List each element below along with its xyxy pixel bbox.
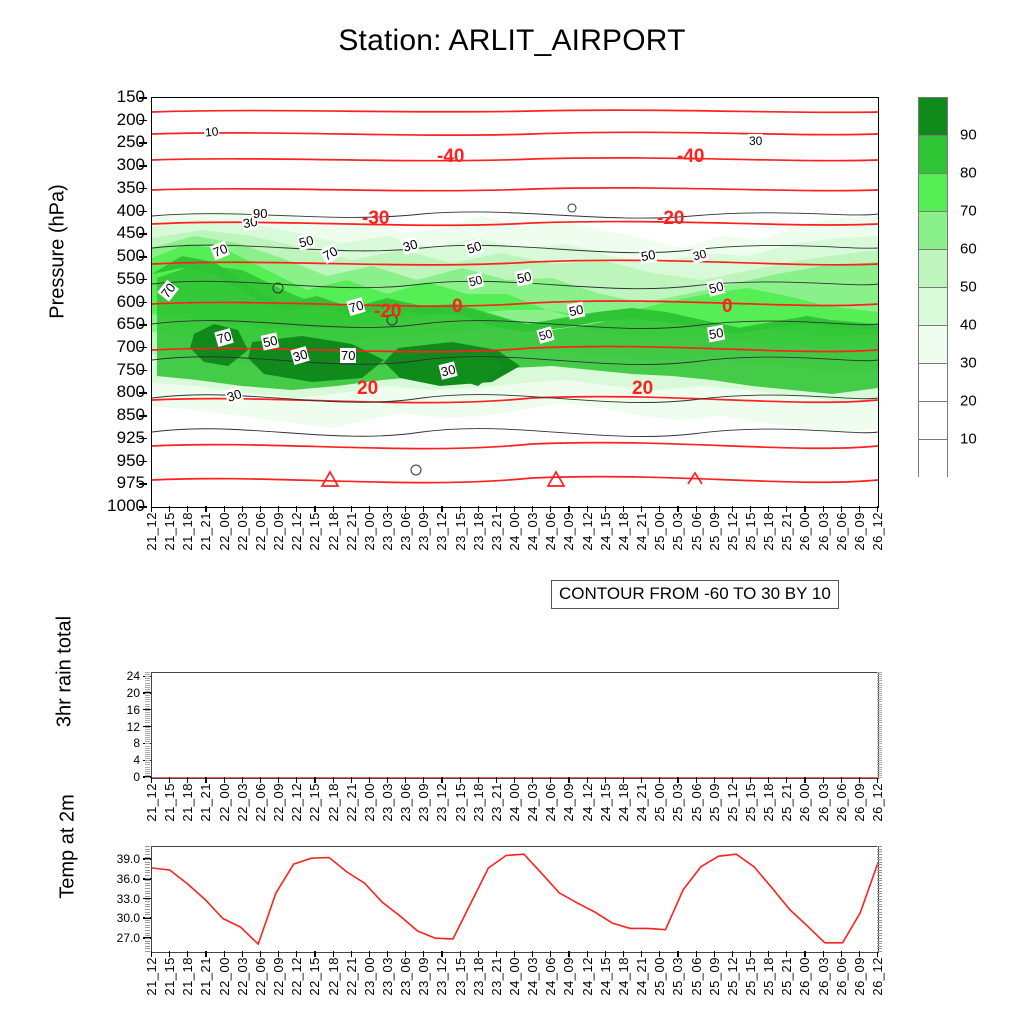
main-x-tick-26_00: 26_00 bbox=[797, 512, 812, 551]
rain-y-minortick-right bbox=[877, 760, 882, 761]
temp-x-tickmark bbox=[750, 951, 751, 957]
rain-x-tickmark bbox=[804, 777, 805, 783]
rain-y-minortick bbox=[145, 708, 150, 709]
temp-y-minortick-right bbox=[877, 935, 882, 936]
temp-x-tick-23_03: 23_03 bbox=[380, 957, 395, 996]
temp-x-tickmark bbox=[224, 951, 225, 957]
main-x-tickmark bbox=[478, 506, 479, 512]
rain-x-tickmark bbox=[169, 777, 170, 783]
rain-x-tickmark bbox=[314, 777, 315, 783]
temp-x-tick-23_00: 23_00 bbox=[362, 957, 377, 996]
temp-y-minortick-right bbox=[877, 896, 882, 897]
temp-y-minortick-right bbox=[877, 901, 882, 902]
temp-y-minortick-right bbox=[877, 875, 882, 876]
colorbar-tick-10: 10 bbox=[960, 431, 977, 448]
main-x-tickmark bbox=[532, 506, 533, 512]
temp-x-tick-24_21: 24_21 bbox=[634, 957, 649, 996]
rain-x-tickmark bbox=[714, 777, 715, 783]
rain-y-tick-8: 8 bbox=[100, 736, 140, 750]
humidity-label-30f: 30 bbox=[748, 134, 763, 148]
isotherm-label--40: -40 bbox=[437, 146, 464, 168]
rain-x-tickmark bbox=[296, 777, 297, 783]
main-x-tick-23_00: 23_00 bbox=[362, 512, 377, 551]
humidity-label-70e: 70 bbox=[340, 348, 356, 363]
temp-x-tickmark bbox=[804, 951, 805, 957]
temp-x-tickmark bbox=[859, 951, 860, 957]
main-x-tickmark bbox=[405, 506, 406, 512]
main-y-tickmark bbox=[139, 142, 147, 144]
temp-x-tickmark bbox=[296, 951, 297, 957]
rain-y-minortick bbox=[145, 695, 150, 696]
main-x-tick-25_09: 25_09 bbox=[707, 512, 722, 551]
rain-x-tick-24_15: 24_15 bbox=[598, 783, 613, 822]
temp-x-tick-24_18: 24_18 bbox=[616, 957, 631, 996]
temp-y-minortick-right bbox=[877, 951, 882, 952]
rain-x-tick-21_21: 21_21 bbox=[198, 783, 213, 822]
rain-total-plot[interactable] bbox=[151, 672, 879, 779]
temp-x-tick-26_00: 26_00 bbox=[797, 957, 812, 996]
temp-x-tickmark bbox=[714, 951, 715, 957]
rain-y-minortick bbox=[145, 752, 150, 753]
rain-x-tickmark bbox=[387, 777, 388, 783]
temp-x-tick-23_09: 23_09 bbox=[416, 957, 431, 996]
rain-y-minortick bbox=[145, 693, 150, 694]
main-x-tick-22_12: 22_12 bbox=[289, 512, 304, 551]
temp-x-tickmark bbox=[460, 951, 461, 957]
colorbar-cell-1 bbox=[918, 135, 948, 173]
main-y-tickmark bbox=[139, 97, 147, 99]
main-x-tick-21_12: 21_12 bbox=[144, 512, 159, 551]
rain-y-minortick-right bbox=[877, 764, 882, 765]
rain-y-minortick-right bbox=[877, 729, 882, 730]
main-x-tick-22_18: 22_18 bbox=[326, 512, 341, 551]
main-x-tickmark bbox=[768, 506, 769, 512]
temp-x-tick-23_18: 23_18 bbox=[471, 957, 486, 996]
rain-y-minortick-right bbox=[877, 775, 882, 776]
temp-y-minortick bbox=[145, 912, 150, 913]
rain-x-tick-24_09: 24_09 bbox=[561, 783, 576, 822]
rain-x-tick-22_00: 22_00 bbox=[217, 783, 232, 822]
rain-y-minortick bbox=[145, 746, 150, 747]
cross-section-svg bbox=[152, 98, 878, 507]
temp-y-minortick bbox=[145, 946, 150, 947]
temp-x-tickmark bbox=[478, 951, 479, 957]
rain-y-minortick-right bbox=[877, 725, 882, 726]
temp-y-minortick bbox=[145, 870, 150, 871]
temp-axis-title: Temp at 2m bbox=[57, 757, 80, 937]
temp-x-tick-22_12: 22_12 bbox=[289, 957, 304, 996]
temp-y-minortick-right bbox=[877, 864, 882, 865]
rain-x-tick-26_09: 26_09 bbox=[852, 783, 867, 822]
rain-x-tick-22_09: 22_09 bbox=[271, 783, 286, 822]
colorbar-cell-8 bbox=[918, 401, 948, 439]
main-x-tickmark bbox=[587, 506, 588, 512]
rain-y-minortick bbox=[145, 731, 150, 732]
temp-x-tick-22_18: 22_18 bbox=[326, 957, 341, 996]
main-y-tickmark bbox=[139, 415, 147, 417]
main-x-tick-23_09: 23_09 bbox=[416, 512, 431, 551]
rain-y-minortick bbox=[145, 756, 150, 757]
rain-y-minortick bbox=[145, 710, 150, 711]
temp-y-minortick-right bbox=[877, 948, 882, 949]
temp-y-minortick-right bbox=[877, 899, 882, 900]
rain-y-minortick-right bbox=[877, 727, 882, 728]
sounding-cross-section-plot[interactable]: 10 30 90 50 70 70 70 30 50 50 50 70 70 7… bbox=[151, 97, 879, 508]
rain-x-tickmark bbox=[441, 777, 442, 783]
temp-x-tickmark bbox=[242, 951, 243, 957]
rain-x-tickmark bbox=[333, 777, 334, 783]
temp-x-tickmark bbox=[641, 951, 642, 957]
main-x-tick-25_15: 25_15 bbox=[743, 512, 758, 551]
temp-y-minortick bbox=[145, 880, 150, 881]
main-x-tick-25_18: 25_18 bbox=[761, 512, 776, 551]
rain-y-minortick-right bbox=[877, 691, 882, 692]
rain-x-tickmark bbox=[532, 777, 533, 783]
rain-x-tickmark bbox=[641, 777, 642, 783]
temp-y-minortick bbox=[145, 851, 150, 852]
main-x-tickmark bbox=[877, 506, 878, 512]
main-x-tick-26_06: 26_06 bbox=[834, 512, 849, 551]
main-x-tick-24_00: 24_00 bbox=[507, 512, 522, 551]
temp-x-tick-22_00: 22_00 bbox=[217, 957, 232, 996]
main-x-tickmark bbox=[423, 506, 424, 512]
temp-x-tick-25_12: 25_12 bbox=[725, 957, 740, 996]
rain-y-minortick-right bbox=[877, 710, 882, 711]
temp-y-minortick bbox=[145, 922, 150, 923]
main-x-tick-23_12: 23_12 bbox=[434, 512, 449, 551]
main-x-tick-24_12: 24_12 bbox=[580, 512, 595, 551]
main-x-tickmark bbox=[314, 506, 315, 512]
rain-y-minortick-right bbox=[877, 737, 882, 738]
temp-y-minortick-right bbox=[877, 888, 882, 889]
temp-y-minortick bbox=[145, 885, 150, 886]
main-x-tickmark bbox=[333, 506, 334, 512]
rain-y-minortick bbox=[145, 775, 150, 776]
temp-2m-plot[interactable] bbox=[151, 846, 879, 953]
colorbar-tick-30: 30 bbox=[960, 355, 977, 372]
rain-y-minortick bbox=[145, 712, 150, 713]
main-x-tickmark bbox=[496, 506, 497, 512]
main-x-tickmark bbox=[550, 506, 551, 512]
rain-x-tickmark bbox=[677, 777, 678, 783]
rain-y-minortick bbox=[145, 762, 150, 763]
main-x-tickmark bbox=[460, 506, 461, 512]
rain-x-tick-26_06: 26_06 bbox=[834, 783, 849, 822]
rain-y-minortick bbox=[145, 735, 150, 736]
temp-y-minortick-right bbox=[877, 904, 882, 905]
rain-y-minortick bbox=[145, 676, 150, 677]
temp-x-tickmark bbox=[387, 951, 388, 957]
temp-x-tickmark bbox=[496, 951, 497, 957]
humidity-label-30e: 50 bbox=[707, 325, 726, 343]
isotherm-label--20: -20 bbox=[657, 208, 684, 230]
rain-y-minortick bbox=[145, 760, 150, 761]
rain-y-minortick bbox=[145, 683, 150, 684]
temp-x-tick-25_18: 25_18 bbox=[761, 957, 776, 996]
temp-y-minortick-right bbox=[877, 912, 882, 913]
rain-y-minortick-right bbox=[877, 750, 882, 751]
colorbar-cell-2 bbox=[918, 173, 948, 211]
temp-y-minortick bbox=[145, 846, 150, 847]
rain-y-minortick-right bbox=[877, 754, 882, 755]
rain-y-minortick bbox=[145, 672, 150, 673]
temp-x-tickmark bbox=[841, 951, 842, 957]
main-x-tickmark bbox=[823, 506, 824, 512]
main-x-tick-21_21: 21_21 bbox=[198, 512, 213, 551]
rain-x-tick-23_21: 23_21 bbox=[489, 783, 504, 822]
rain-y-minortick bbox=[145, 771, 150, 772]
rain-y-minortick-right bbox=[877, 722, 882, 723]
temp-y-minortick-right bbox=[877, 846, 882, 847]
rain-y-minortick bbox=[145, 722, 150, 723]
rain-x-tick-24_06: 24_06 bbox=[543, 783, 558, 822]
main-x-tickmark bbox=[151, 506, 152, 512]
temp-x-tickmark bbox=[550, 951, 551, 957]
rain-x-tickmark bbox=[823, 777, 824, 783]
temp-y-minortick bbox=[145, 849, 150, 850]
temp-x-tick-26_03: 26_03 bbox=[816, 957, 831, 996]
main-x-tickmark bbox=[205, 506, 206, 512]
colorbar-cell-7 bbox=[918, 363, 948, 401]
temp-x-tickmark bbox=[423, 951, 424, 957]
temp-x-tick-24_00: 24_00 bbox=[507, 957, 522, 996]
temp-y-minortick-right bbox=[877, 930, 882, 931]
rain-x-tick-24_03: 24_03 bbox=[525, 783, 540, 822]
rain-y-minortick bbox=[145, 773, 150, 774]
main-x-tickmark bbox=[623, 506, 624, 512]
temp-y-minortick bbox=[145, 878, 150, 879]
temp-x-tick-22_15: 22_15 bbox=[307, 957, 322, 996]
temp-x-tick-21_12: 21_12 bbox=[144, 957, 159, 996]
rain-y-minortick-right bbox=[877, 762, 882, 763]
rain-x-tickmark bbox=[568, 777, 569, 783]
rain-x-tick-25_15: 25_15 bbox=[743, 783, 758, 822]
temp-y-minortick-right bbox=[877, 943, 882, 944]
rain-x-tickmark bbox=[423, 777, 424, 783]
rain-y-minortick bbox=[145, 769, 150, 770]
temp-x-tickmark bbox=[587, 951, 588, 957]
rain-y-minortick bbox=[145, 697, 150, 698]
main-x-tick-22_15: 22_15 bbox=[307, 512, 322, 551]
rain-y-minortick bbox=[145, 739, 150, 740]
temp-y-tick-36.0: 36.0 bbox=[90, 872, 140, 886]
rain-svg bbox=[152, 673, 878, 778]
rain-x-tickmark bbox=[187, 777, 188, 783]
rain-x-tick-25_00: 25_00 bbox=[652, 783, 667, 822]
temp-x-tickmark bbox=[823, 951, 824, 957]
rain-y-minortick-right bbox=[877, 693, 882, 694]
rain-y-minortick bbox=[145, 764, 150, 765]
main-x-tickmark bbox=[732, 506, 733, 512]
main-x-tickmark bbox=[224, 506, 225, 512]
colorbar-tick-60: 60 bbox=[960, 241, 977, 258]
temp-y-minortick-right bbox=[877, 941, 882, 942]
rain-x-tick-21_15: 21_15 bbox=[162, 783, 177, 822]
isotherm-label-20b: 20 bbox=[632, 378, 653, 400]
rain-y-minortick-right bbox=[877, 767, 882, 768]
temp-x-tick-26_12: 26_12 bbox=[870, 957, 885, 996]
main-x-tickmark bbox=[677, 506, 678, 512]
temp-y-minortick bbox=[145, 854, 150, 855]
temp-x-tick-21_15: 21_15 bbox=[162, 957, 177, 996]
rain-x-tickmark bbox=[841, 777, 842, 783]
rain-y-minortick bbox=[145, 678, 150, 679]
colorbar-tick-90: 90 bbox=[960, 127, 977, 144]
temp-x-tickmark bbox=[333, 951, 334, 957]
rain-x-tick-25_18: 25_18 bbox=[761, 783, 776, 822]
temp-y-minortick-right bbox=[877, 880, 882, 881]
rain-y-minortick bbox=[145, 699, 150, 700]
main-y-tickmark bbox=[139, 188, 147, 190]
colorbar-tick-80: 80 bbox=[960, 165, 977, 182]
rain-y-minortick bbox=[145, 687, 150, 688]
rain-y-minortick-right bbox=[877, 680, 882, 681]
rain-y-tick-12: 12 bbox=[100, 720, 140, 734]
temp-x-tickmark bbox=[205, 951, 206, 957]
temp-y-minortick bbox=[145, 857, 150, 858]
rain-y-minortick-right bbox=[877, 697, 882, 698]
rain-y-minortick-right bbox=[877, 716, 882, 717]
rain-y-minortick-right bbox=[877, 739, 882, 740]
temp-x-tick-25_03: 25_03 bbox=[670, 957, 685, 996]
rain-y-minortick-right bbox=[877, 699, 882, 700]
main-x-tick-24_18: 24_18 bbox=[616, 512, 631, 551]
main-x-tick-24_03: 24_03 bbox=[525, 512, 540, 551]
main-y-axis: 1502002503003504004505005506006507007508… bbox=[55, 90, 145, 515]
isotherm-label--30: -30 bbox=[362, 208, 389, 230]
temp-y-minortick-right bbox=[877, 927, 882, 928]
main-y-tickmark bbox=[139, 165, 147, 167]
main-x-tick-24_15: 24_15 bbox=[598, 512, 613, 551]
rain-y-minortick-right bbox=[877, 674, 882, 675]
rain-x-tickmark bbox=[405, 777, 406, 783]
temp-y-minortick bbox=[145, 899, 150, 900]
rain-x-tickmark bbox=[496, 777, 497, 783]
main-x-tickmark bbox=[351, 506, 352, 512]
temp-y-minortick bbox=[145, 893, 150, 894]
rain-y-minortick bbox=[145, 777, 150, 778]
temp-y-minortick-right bbox=[877, 851, 882, 852]
temp-y-minortick bbox=[145, 930, 150, 931]
temp-x-tickmark bbox=[786, 951, 787, 957]
rain-y-minortick-right bbox=[877, 687, 882, 688]
rain-y-minortick bbox=[145, 748, 150, 749]
main-x-tick-24_09: 24_09 bbox=[561, 512, 576, 551]
main-x-tick-24_21: 24_21 bbox=[634, 512, 649, 551]
rain-x-tick-25_03: 25_03 bbox=[670, 783, 685, 822]
rain-y-minortick bbox=[145, 718, 150, 719]
temp-x-tick-26_09: 26_09 bbox=[852, 957, 867, 996]
temp-x-tickmark bbox=[260, 951, 261, 957]
temp-x-tickmark bbox=[696, 951, 697, 957]
temp-x-tick-22_21: 22_21 bbox=[344, 957, 359, 996]
temp-y-minortick bbox=[145, 925, 150, 926]
rain-x-tick-25_09: 25_09 bbox=[707, 783, 722, 822]
temp-x-tick-23_12: 23_12 bbox=[434, 957, 449, 996]
temp-y-minortick bbox=[145, 948, 150, 949]
temp-x-tickmark bbox=[441, 951, 442, 957]
rain-x-tickmark bbox=[623, 777, 624, 783]
main-x-tick-26_09: 26_09 bbox=[852, 512, 867, 551]
rain-x-tickmark bbox=[786, 777, 787, 783]
temp-y-minortick-right bbox=[877, 893, 882, 894]
rain-y-minortick-right bbox=[877, 708, 882, 709]
rain-x-tickmark bbox=[732, 777, 733, 783]
main-x-tick-22_06: 22_06 bbox=[253, 512, 268, 551]
temp-y-minortick bbox=[145, 933, 150, 934]
rain-x-tick-22_15: 22_15 bbox=[307, 783, 322, 822]
temp-x-tick-25_21: 25_21 bbox=[779, 957, 794, 996]
temp-x-tick-25_00: 25_00 bbox=[652, 957, 667, 996]
main-y-tickmark bbox=[139, 506, 147, 508]
rain-x-tickmark bbox=[605, 777, 606, 783]
main-y-tickmark bbox=[139, 392, 147, 394]
rain-y-minortick bbox=[145, 733, 150, 734]
colorbar-cell-9 bbox=[918, 439, 948, 477]
rain-y-minortick-right bbox=[877, 676, 882, 677]
temp-y-minortick bbox=[145, 906, 150, 907]
temp-x-tick-24_09: 24_09 bbox=[561, 957, 576, 996]
rain-y-minortick-right bbox=[877, 771, 882, 772]
rain-x-tick-24_00: 24_00 bbox=[507, 783, 522, 822]
main-y-tickmark bbox=[139, 347, 147, 349]
temp-y-tick-33.0: 33.0 bbox=[90, 892, 140, 906]
temp-x-tick-22_09: 22_09 bbox=[271, 957, 286, 996]
temp-y-minortick bbox=[145, 914, 150, 915]
rain-y-minortick bbox=[145, 685, 150, 686]
rain-y-minortick-right bbox=[877, 733, 882, 734]
main-y-tickmark bbox=[139, 461, 147, 463]
rain-y-minortick bbox=[145, 767, 150, 768]
main-x-tickmark bbox=[696, 506, 697, 512]
temp-x-tickmark bbox=[151, 951, 152, 957]
main-x-tickmark bbox=[841, 506, 842, 512]
main-x-tickmark bbox=[568, 506, 569, 512]
rain-x-tickmark bbox=[659, 777, 660, 783]
rain-x-tick-24_12: 24_12 bbox=[580, 783, 595, 822]
rain-y-minortick-right bbox=[877, 731, 882, 732]
rain-x-tickmark bbox=[478, 777, 479, 783]
main-x-tickmark bbox=[659, 506, 660, 512]
rain-y-tick-20: 20 bbox=[100, 686, 140, 700]
temp-y-minortick-right bbox=[877, 885, 882, 886]
rain-x-tick-25_21: 25_21 bbox=[779, 783, 794, 822]
rain-y-minortick bbox=[145, 714, 150, 715]
rain-y-minortick-right bbox=[877, 743, 882, 744]
rain-y-minortick bbox=[145, 720, 150, 721]
rain-x-tickmark bbox=[224, 777, 225, 783]
temp-y-minortick bbox=[145, 917, 150, 918]
temp-y-minortick-right bbox=[877, 862, 882, 863]
rain-x-tick-22_03: 22_03 bbox=[235, 783, 250, 822]
main-x-tickmark bbox=[296, 506, 297, 512]
colorbar[interactable]: 908070605040302010 bbox=[918, 97, 948, 477]
rain-x-tickmark bbox=[205, 777, 206, 783]
rain-x-tickmark bbox=[278, 777, 279, 783]
rain-x-tickmark bbox=[514, 777, 515, 783]
rain-y-minortick-right bbox=[877, 735, 882, 736]
humidity-label-50g: 50 bbox=[639, 247, 658, 265]
rain-y-tick-4: 4 bbox=[100, 753, 140, 767]
temp-y-minortick-right bbox=[877, 946, 882, 947]
temp-y-minortick bbox=[145, 920, 150, 921]
temp-y-minortick bbox=[145, 943, 150, 944]
temp-svg bbox=[152, 847, 878, 952]
rain-y-minortick-right bbox=[877, 748, 882, 749]
rain-x-tick-26_03: 26_03 bbox=[816, 783, 831, 822]
rain-y-minortick bbox=[145, 704, 150, 705]
rain-y-tick-24: 24 bbox=[100, 669, 140, 683]
